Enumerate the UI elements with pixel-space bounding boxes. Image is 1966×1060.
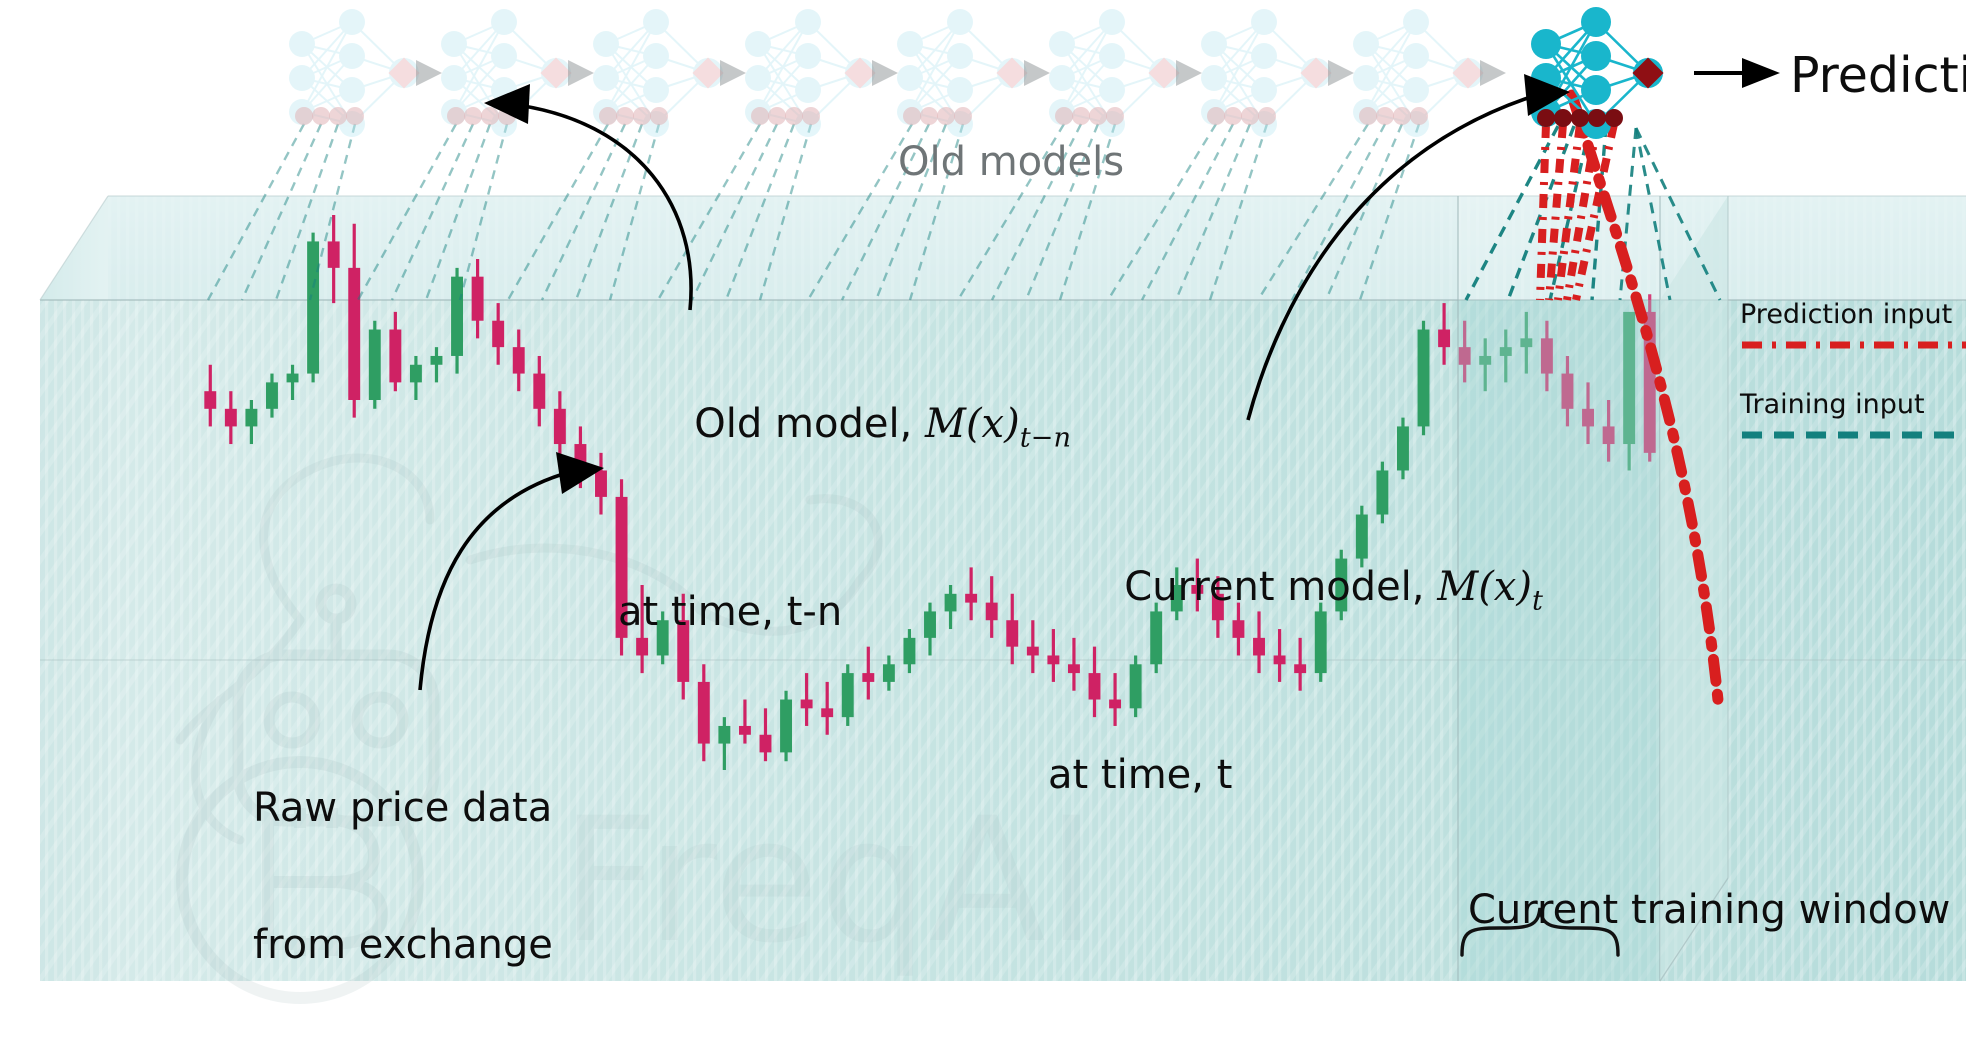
current-model-math-m: M [1437,564,1478,610]
legend-swatch-training-input [1740,430,1966,440]
old-model-text: Old model, [694,401,925,447]
legend-item-prediction-input: Prediction input [1740,300,1966,372]
raw-price-annotation: Raw price data from exchange [253,695,553,1060]
arrow-raw-price-data [420,452,604,690]
raw-price-line2: from exchange [253,923,553,969]
training-window-label: Current training window [1468,888,1950,934]
current-model-text: Current model, [1124,564,1437,610]
current-model-annotation: Current model, M(x)t at time, t [1048,428,1543,890]
old-model-annotation: Old model, M(x)t−n at time, t-n [618,265,1071,727]
current-model-math-subscript: t [1532,585,1543,616]
old-model-math-m: M [925,401,966,447]
current-model-math-x: (x) [1478,564,1532,610]
legend: Prediction input Training input [1740,300,1966,462]
diagram-root: FreqAI [0,0,1966,981]
legend-label-prediction-input: Prediction input [1740,300,1952,331]
old-models-label: Old models [898,140,1124,186]
raw-price-line1: Raw price data [253,786,553,832]
legend-label-training-input: Training input [1740,390,1925,421]
arrow-current-model [1248,74,1570,420]
old-model-math-x: (x) [966,401,1020,447]
old-model-time-text: at time, t-n [618,590,1071,636]
legend-swatch-prediction-input [1740,340,1966,350]
legend-item-training-input: Training input [1740,390,1966,462]
prediction-label: Prediction [1790,48,1966,104]
current-model-time-text: at time, t [1048,753,1543,799]
